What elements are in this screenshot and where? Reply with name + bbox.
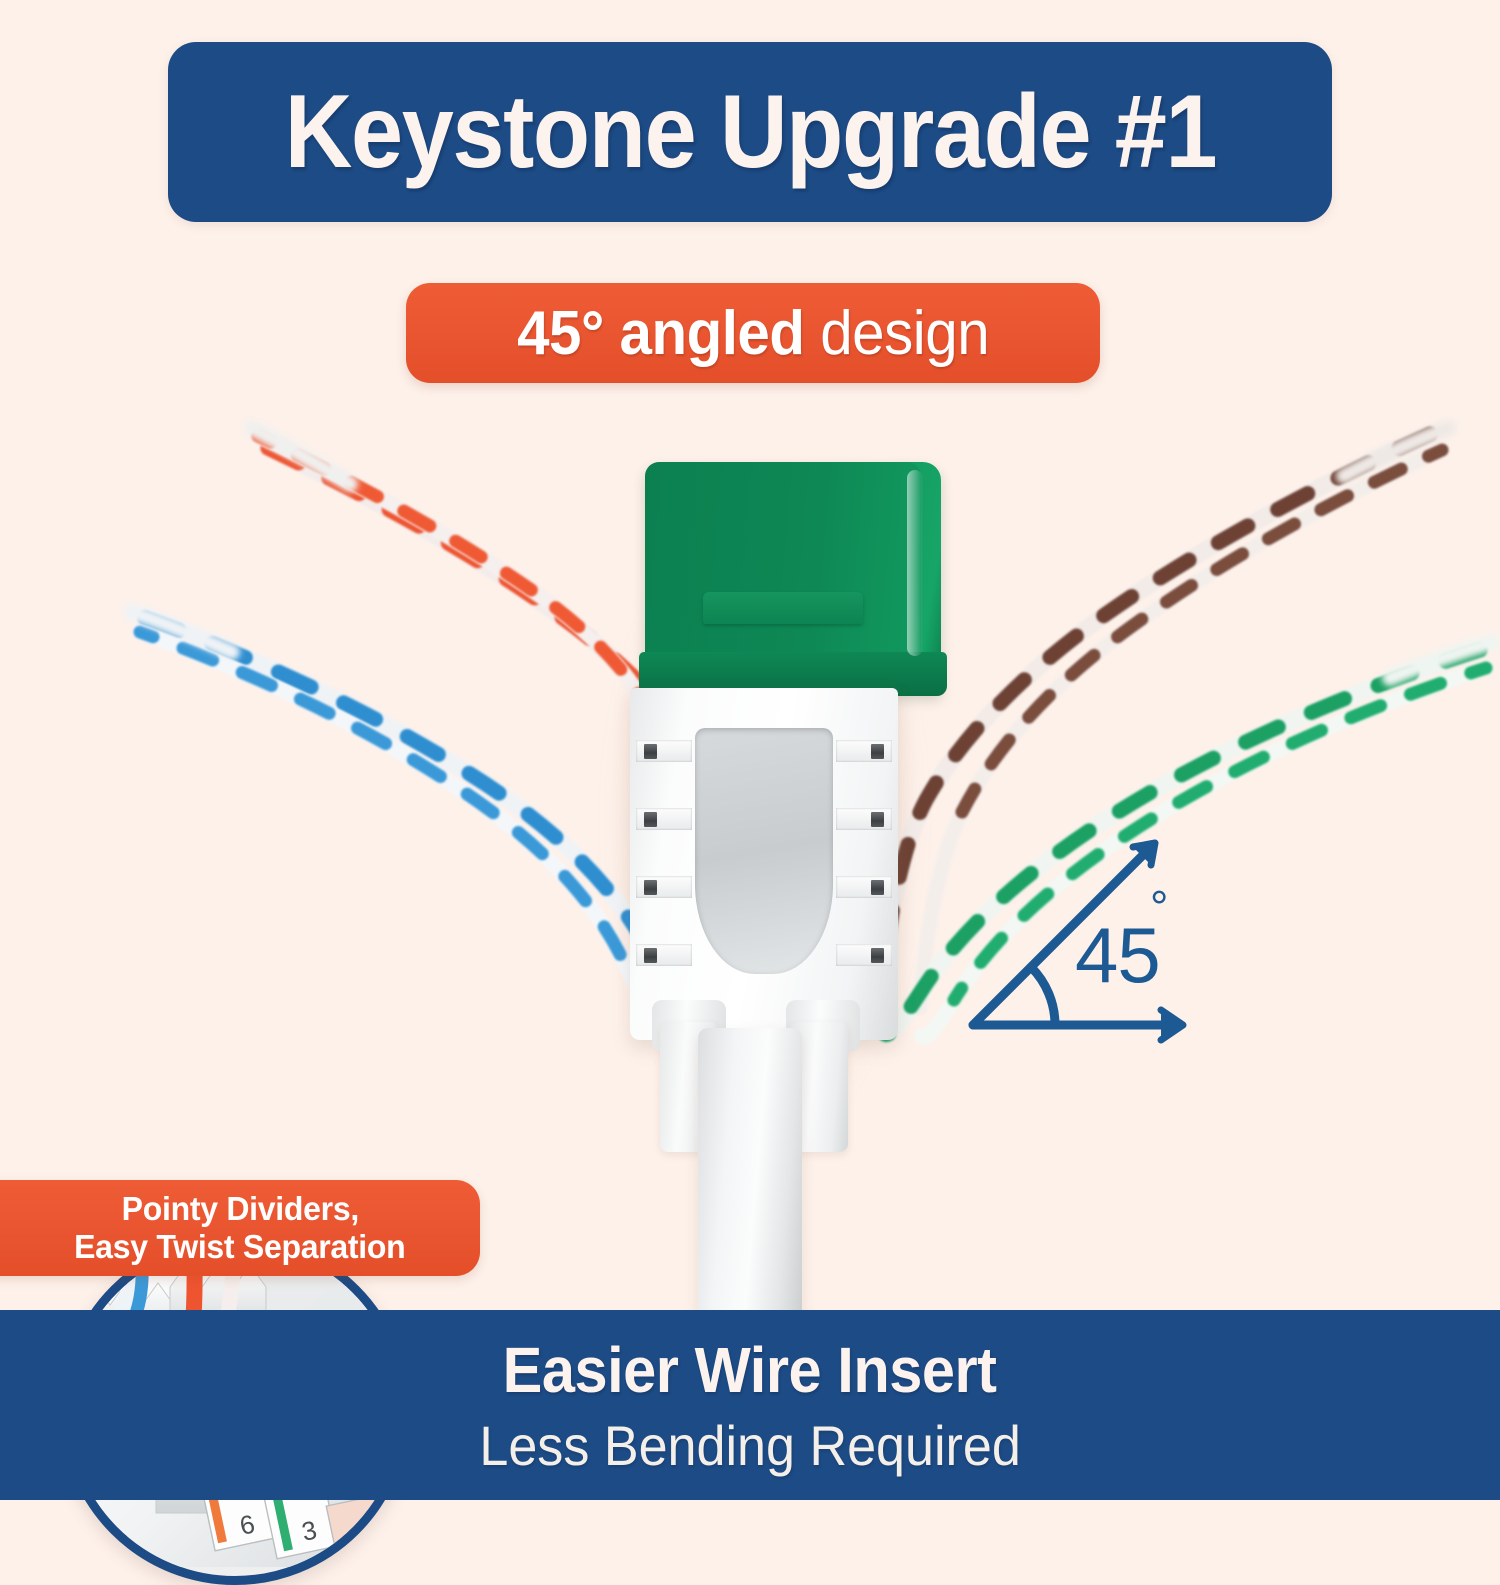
- idc-slot-left-4: [636, 944, 692, 966]
- badge-bold-text: 45° angled: [517, 299, 804, 368]
- title-banner: Keystone Upgrade #1: [168, 42, 1332, 222]
- bottom-banner-subhead: Less Bending Required: [479, 1413, 1020, 1478]
- page-title: Keystone Upgrade #1: [284, 73, 1215, 192]
- idc-slot-left-3: [636, 876, 692, 898]
- angle-value-label: 45: [1075, 910, 1160, 1001]
- idc-contact-icon: [644, 744, 657, 759]
- green-cap-highlight: [907, 470, 923, 656]
- idc-contact-icon: [644, 812, 657, 827]
- idc-slot-right-3: [836, 876, 892, 898]
- idc-contact-icon: [644, 880, 657, 895]
- grey-cable-jacket: [698, 1028, 802, 1328]
- inset-caption-line-1: Pointy Dividers,: [121, 1190, 358, 1228]
- idc-slot-left-2: [636, 808, 692, 830]
- white-jack-body: [630, 688, 898, 1040]
- inset-caption-badge: Pointy Dividers, Easy Twist Separation: [0, 1180, 480, 1276]
- angled-design-badge: 45° angled design: [406, 283, 1100, 383]
- bottom-banner-headline: Easier Wire Insert: [503, 1333, 997, 1407]
- idc-slot-left-1: [636, 740, 692, 762]
- idc-contact-icon: [871, 744, 884, 759]
- angle-arc: [1031, 967, 1055, 1025]
- idc-contact-icon: [871, 948, 884, 963]
- idc-slot-right-2: [836, 808, 892, 830]
- green-cap-tab: [703, 592, 863, 624]
- idc-slot-right-1: [836, 740, 892, 762]
- angled-design-badge-text: 45° angled design: [517, 298, 989, 369]
- idc-contact-icon: [644, 948, 657, 963]
- idc-contact-icon: [871, 812, 884, 827]
- bottom-banner: Easier Wire Insert Less Bending Required: [0, 1310, 1500, 1500]
- jack-cavity: [695, 728, 833, 974]
- badge-light-text: design: [804, 299, 989, 368]
- angle-degree-symbol: °: [1150, 880, 1168, 934]
- idc-contact-icon: [871, 880, 884, 895]
- wire-blue-white-pair: [132, 612, 690, 1030]
- green-cap: [645, 462, 941, 694]
- green-cap-face: [649, 462, 921, 662]
- inset-caption-line-2: Easy Twist Separation: [74, 1228, 405, 1266]
- idc-slot-right-4: [836, 944, 892, 966]
